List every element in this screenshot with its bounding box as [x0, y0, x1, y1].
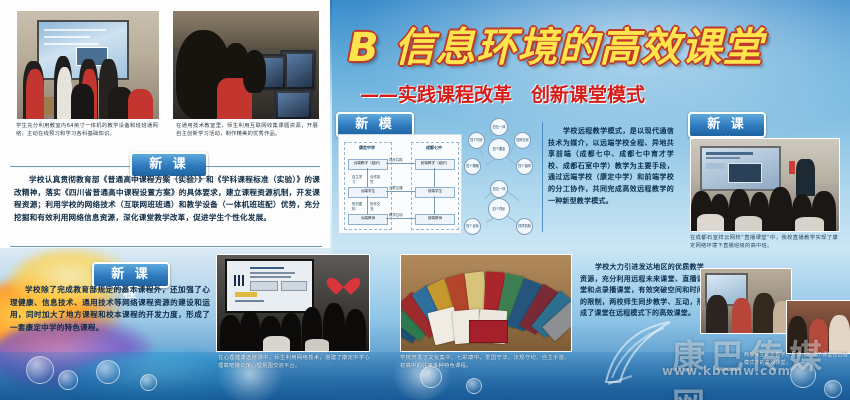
- decor-bubble: [26, 356, 54, 384]
- photo-projector-light: [789, 161, 795, 174]
- diagram-edge-v: [367, 196, 368, 214]
- photo-student-head: [243, 50, 266, 93]
- photo-student: [128, 89, 154, 119]
- photo-broadcast-classroom: [690, 138, 840, 232]
- photo-audience-shirt: [697, 214, 724, 231]
- photo-student: [71, 84, 94, 119]
- diagram-node-left-2: 远端教师: [348, 214, 388, 225]
- photo-course-books: [400, 254, 572, 352]
- photo-audience: [345, 309, 366, 351]
- diagram-edge-v: [434, 168, 435, 187]
- divider-new-model: [542, 122, 543, 232]
- diagram-edge-label-1: 互联互通: [389, 185, 413, 190]
- cluster-node-bottom-3: 四项机制: [516, 218, 533, 235]
- photo-student: [26, 69, 44, 119]
- diagram-inner-label-1: 合作探究: [370, 174, 383, 184]
- diagram-inner-label-0: 自主学习: [352, 174, 365, 184]
- photo-teacher: [796, 159, 815, 196]
- diagram-edge-h: [386, 163, 415, 164]
- diagram-bubble-cluster: 四位一体 四个同步 四种文化 四个要素 四个策略 四个保障 四位一体 四个同步 …: [460, 118, 540, 240]
- diagram-label-kangding: 康定中学: [344, 145, 390, 151]
- cluster-node-bottom-1: 四个同步: [488, 198, 510, 220]
- photo-audience: [220, 315, 241, 351]
- photo-computer-lab: [172, 10, 320, 120]
- decor-bubble: [96, 360, 120, 384]
- photo-audience-shirt: [263, 336, 290, 351]
- decor-bubble: [466, 378, 482, 394]
- decor-bubble: [58, 370, 78, 390]
- diagram-edge-label-2: 教学互动: [389, 212, 413, 217]
- photo-heart-graphic: [333, 270, 354, 291]
- diagram-node-left-0: 远端教学（组织）: [348, 159, 388, 170]
- diagram-node-right-2: 前端教师: [415, 214, 455, 225]
- caption-photo-smartboard: 学生充分利用教室内64英寸一体机的教学设备和班班通网络，主动在线预习和学习各科基…: [16, 122, 158, 150]
- body-new-reform: 学校认真贯彻教育部《普通高中课程方案（实验）》和《学科课程标准（实验）》的课改精…: [14, 174, 320, 244]
- decor-bubble: [140, 374, 157, 391]
- caption-photo-psych: 在心理健康选修课中，师生利用网络技术，搭建了康定中学心理氧吧魏公馆心理氛围交流平…: [218, 354, 370, 380]
- cluster-node-top-4: 四个策略: [464, 158, 481, 175]
- cluster-node-top-0: 四位一体: [490, 118, 508, 136]
- photo-student: [732, 298, 752, 333]
- diagram-edge-label-0: 同步共振: [389, 157, 413, 162]
- photo-red-book: [469, 320, 508, 343]
- diagram-label-chengdu: 成都七中: [411, 145, 457, 151]
- photo-smartboard-classroom: [16, 10, 160, 120]
- photo-student: [706, 295, 728, 333]
- photo-audience: [769, 187, 791, 231]
- divider-new-reform-bottom: [10, 246, 322, 247]
- caption-photo-books: 学校开发了文化集中、七彩康中、爱国守法、法规守纪、自主手能、初高中的往来多种特色…: [400, 354, 570, 380]
- divider-new-reform-top: [10, 166, 130, 167]
- photo-monitor: [274, 89, 313, 120]
- diagram-node-left-1: 远端学生: [348, 187, 388, 198]
- diagram-node-right-0: 前端教学（组织）: [415, 159, 455, 170]
- diagram-inner-label-3: 协作交流: [370, 201, 383, 211]
- cluster-node-bottom-2: 四个目标: [464, 218, 481, 235]
- cluster-node-center: 四个要素: [488, 138, 510, 160]
- photo-audience-shirt: [305, 339, 329, 351]
- page-subtitle: ——实践课程改革 创新课堂模式: [360, 82, 830, 108]
- diagram-edge-v: [367, 168, 368, 187]
- photo-qr-code: [234, 275, 246, 286]
- diagram-edge-h: [386, 218, 415, 219]
- cluster-node-bottom-0: 四位一体: [490, 180, 508, 198]
- photo-audience: [240, 311, 260, 351]
- photo-audience-shirt: [735, 216, 762, 231]
- diagram-remote-teaching-model: 康定中学 成都七中 远端教学（组织） 远端学生 远端教师 前端教学（组织） 前端…: [338, 134, 462, 234]
- tag-new-classroom: 新 课 堂: [688, 112, 766, 138]
- photo-student: [753, 293, 775, 333]
- watermark-url: www.kbcmw.com: [662, 364, 791, 378]
- page-title: B 信息环境的高效课堂: [348, 22, 840, 74]
- diagram-node-right-1: 前端学生: [415, 187, 455, 198]
- photo-audience-shirt: [795, 217, 825, 231]
- diagram-inner-label-2: 知识建构: [352, 201, 365, 211]
- caption-photo-complab: 在通用技术教室里，师生利用互联网收集课题资源，开展自主创新学习活动，制作精美的优…: [176, 122, 318, 150]
- caption-photo-broadcast: 在成都石室祥云网校“直播课堂”中，我校直播教学实现了康定网络环境下直播班级的高中…: [690, 234, 838, 258]
- body-new-curriculum: 学校除了完成教育部规定的基本课程外，还加强了心理健康、信息技术、通用技术等网络课…: [10, 284, 210, 344]
- photo-interactive-lesson: [700, 268, 792, 334]
- photo-broadcast-screen: [700, 146, 781, 190]
- photo-psychology-lesson: [216, 254, 370, 352]
- cluster-node-top-1: 四个同步: [468, 132, 485, 149]
- poster-root: 学生充分利用教室内64英寸一体机的教学设备和班班通网络，主动在线预习和学习各科基…: [0, 0, 850, 400]
- cluster-node-top-5: 四个保障: [516, 158, 533, 175]
- diagram-edge-h: [386, 191, 415, 192]
- body-new-model: 学校远程教学模式，是以现代通信技术为媒介，以远端学校全程、异地共享前端（成都七中…: [548, 126, 674, 226]
- diagram-edge-v: [434, 196, 435, 214]
- divider-new-reform-top2: [196, 166, 320, 167]
- photo-projection-screen: [225, 259, 314, 313]
- cluster-node-top-2: 四种文化: [514, 132, 531, 149]
